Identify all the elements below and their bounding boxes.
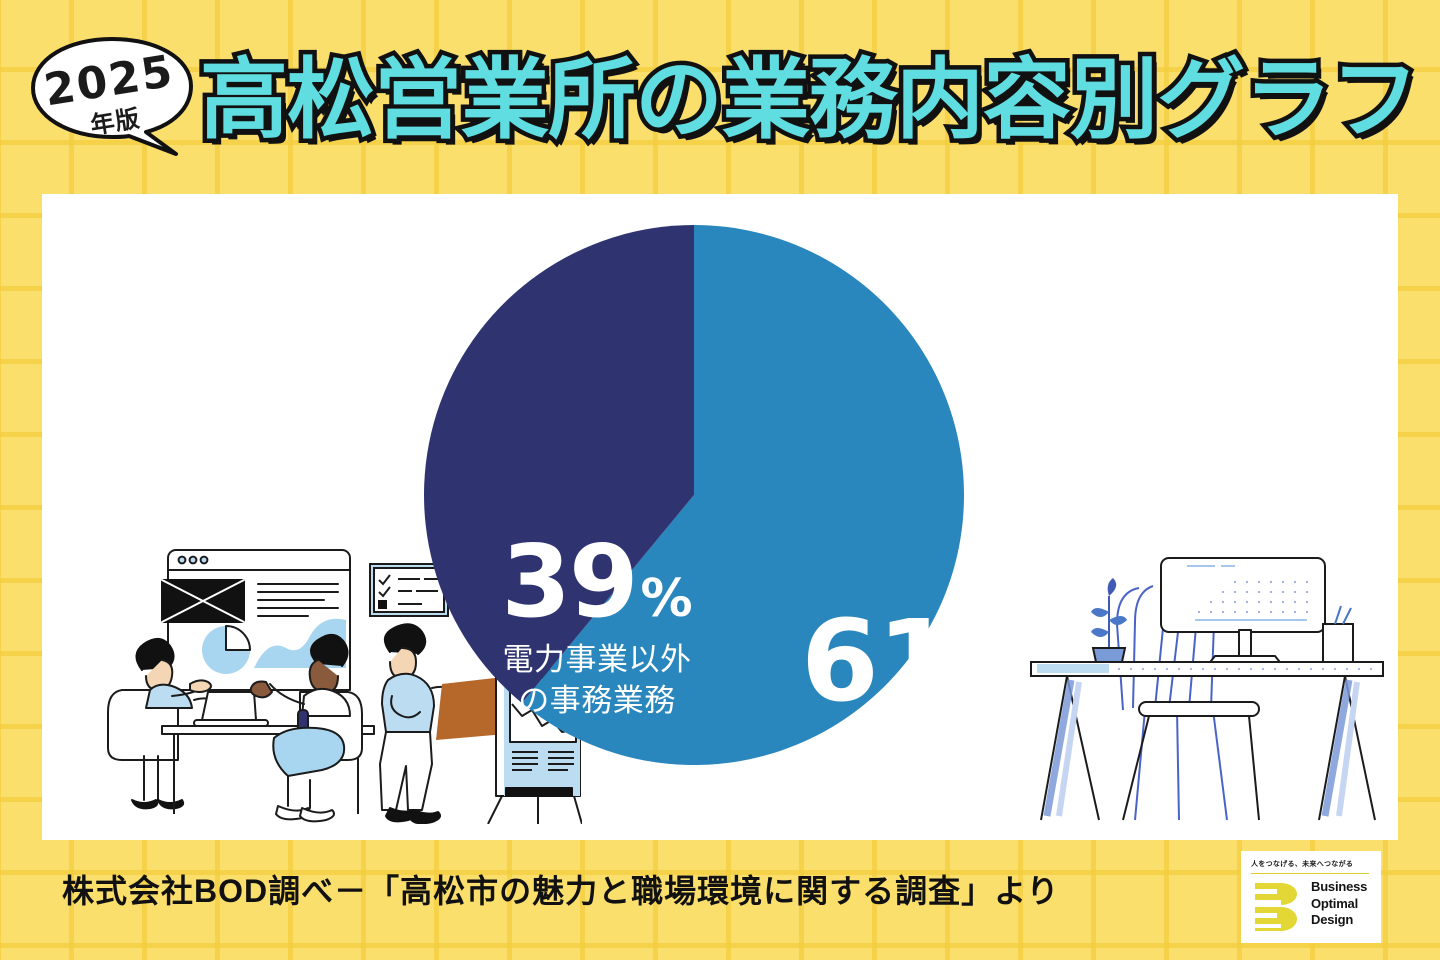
logo-tagline: 人をつなげる、未来へつながる	[1251, 859, 1353, 869]
pie-caption-61-line2: 事務業務	[762, 767, 1052, 808]
pie-chart	[419, 220, 969, 770]
logo-wordmark: Business Optimal Design	[1311, 879, 1367, 929]
desk-workstation-illustration	[1027, 524, 1387, 824]
company-logo: 人をつなげる、未来へつながる Business Optimal Design	[1241, 851, 1381, 943]
bod-logo-mark-icon	[1251, 881, 1303, 931]
page-title-text: 高松営業所の業務内容別グラフ	[200, 56, 1418, 144]
chart-card: 39 % 電力事業以外 の事務業務 61 % 電力事業の 事務業務	[42, 194, 1398, 840]
logo-word-line2: Optimal	[1311, 896, 1367, 913]
infographic-poster: 2025 年版 高松営業所の業務内容別グラフ	[0, 0, 1440, 960]
logo-word-line3: Design	[1311, 912, 1367, 929]
year-badge-bubble: 2025 年版	[28, 36, 196, 152]
logo-word-line1: Business	[1311, 879, 1367, 896]
page-title: 高松営業所の業務内容別グラフ	[200, 42, 1420, 158]
source-caption: 株式会社BOD調べ－「高松市の魅力と職場環境に関する調査」より	[62, 866, 1059, 912]
logo-divider	[1251, 873, 1369, 874]
